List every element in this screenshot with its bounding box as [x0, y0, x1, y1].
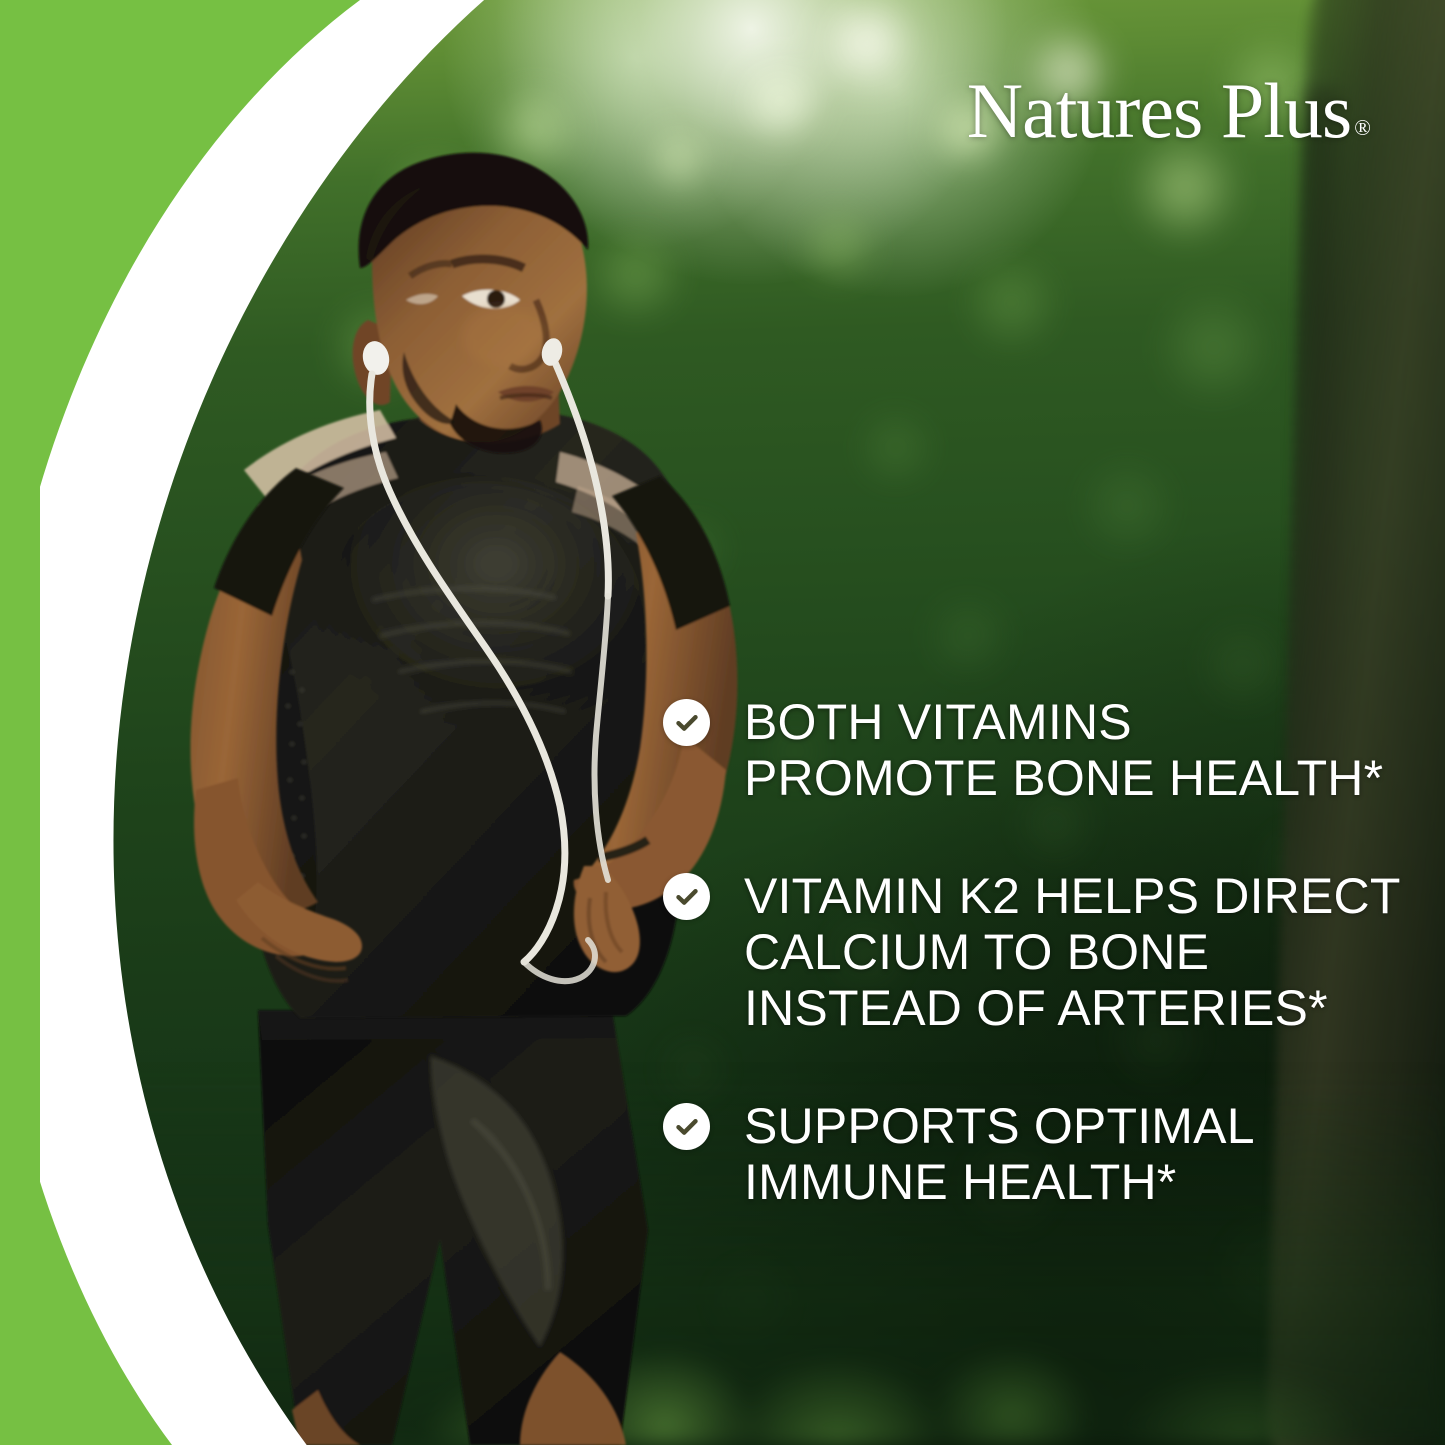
benefits-list: BOTH VITAMINS PROMOTE BONE HEALTH* VITAM… — [663, 694, 1423, 1210]
benefit-item: BOTH VITAMINS PROMOTE BONE HEALTH* — [663, 694, 1423, 806]
benefit-text: VITAMIN K2 HELPS DIRECT CALCIUM TO BONE … — [744, 868, 1401, 1036]
benefit-item: SUPPORTS OPTIMAL IMMUNE HEALTH* — [663, 1098, 1423, 1210]
benefit-line: BOTH VITAMINS — [744, 694, 1383, 750]
benefit-line: PROMOTE BONE HEALTH* — [744, 750, 1383, 806]
check-circle-icon — [663, 699, 710, 746]
benefit-line: VITAMIN K2 HELPS DIRECT — [744, 868, 1401, 924]
benefit-item: VITAMIN K2 HELPS DIRECT CALCIUM TO BONE … — [663, 868, 1423, 1036]
product-benefits-banner: Natures Plus ® BOTH VITAMINS PROMOTE BON… — [0, 0, 1445, 1445]
brand-logo: Natures Plus ® — [967, 74, 1371, 148]
check-circle-icon — [663, 1103, 710, 1150]
benefit-text: BOTH VITAMINS PROMOTE BONE HEALTH* — [744, 694, 1383, 806]
benefit-text: SUPPORTS OPTIMAL IMMUNE HEALTH* — [744, 1098, 1255, 1210]
benefit-line: SUPPORTS OPTIMAL — [744, 1098, 1255, 1154]
benefit-line: CALCIUM TO BONE — [744, 924, 1401, 980]
benefit-line: INSTEAD OF ARTERIES* — [744, 980, 1401, 1036]
brand-logo-text: Natures Plus — [967, 74, 1351, 148]
benefit-line: IMMUNE HEALTH* — [744, 1154, 1255, 1210]
registered-trademark-icon: ® — [1354, 117, 1371, 139]
check-circle-icon — [663, 873, 710, 920]
